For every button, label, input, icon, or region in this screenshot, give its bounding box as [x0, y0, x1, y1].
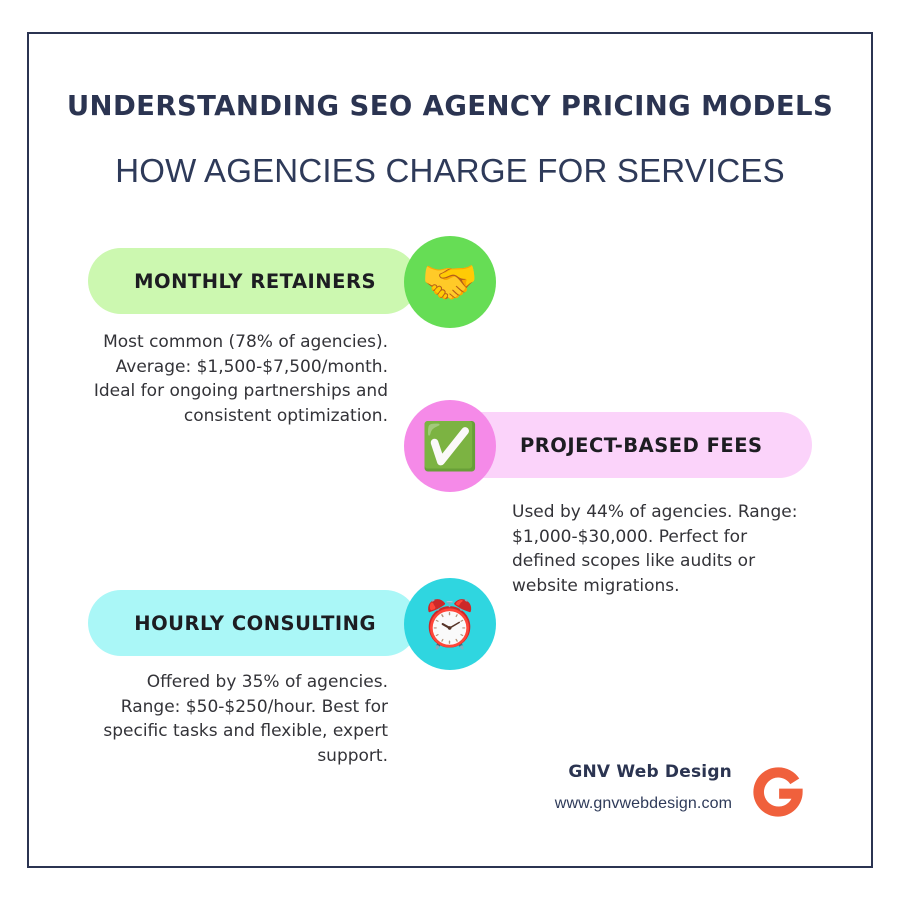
alarm-clock-icon: ⏰: [404, 578, 496, 670]
gnv-g-logo-icon: [750, 764, 806, 820]
pricing-body-project-based-fees: Used by 44% of agencies. Range: $1,000-$…: [512, 500, 802, 599]
infographic-canvas: UNDERSTANDING SEO AGENCY PRICING MODELS …: [0, 0, 900, 900]
check-mark-button-icon-glyph: ✅: [421, 423, 478, 469]
footer: GNV Web Design www.gnvwebdesign.com: [470, 762, 830, 842]
check-mark-button-icon: ✅: [404, 400, 496, 492]
pill-label-project-based-fees: PROJECT-BASED FEES: [520, 434, 763, 457]
handshake-icon: 🤝: [404, 236, 496, 328]
pricing-pill-monthly-retainers: MONTHLY RETAINERS: [88, 248, 418, 314]
pricing-body-hourly-consulting: Offered by 35% of agencies. Range: $50-$…: [88, 670, 388, 769]
pill-label-hourly-consulting: HOURLY CONSULTING: [134, 612, 376, 635]
pricing-body-monthly-retainers: Most common (78% of agencies). Average: …: [88, 330, 388, 429]
footer-text-block: GNV Web Design www.gnvwebdesign.com: [470, 762, 732, 813]
page-subtitle: HOW AGENCIES CHARGE FOR SERVICES: [0, 152, 900, 190]
pill-label-monthly-retainers: MONTHLY RETAINERS: [134, 270, 376, 293]
alarm-clock-icon-glyph: ⏰: [421, 601, 478, 647]
handshake-icon-glyph: 🤝: [421, 259, 478, 305]
page-title: UNDERSTANDING SEO AGENCY PRICING MODELS: [0, 90, 900, 122]
pricing-pill-hourly-consulting: HOURLY CONSULTING: [88, 590, 418, 656]
footer-brand-name: GNV Web Design: [470, 762, 732, 782]
footer-website-url[interactable]: www.gnvwebdesign.com: [470, 795, 732, 813]
